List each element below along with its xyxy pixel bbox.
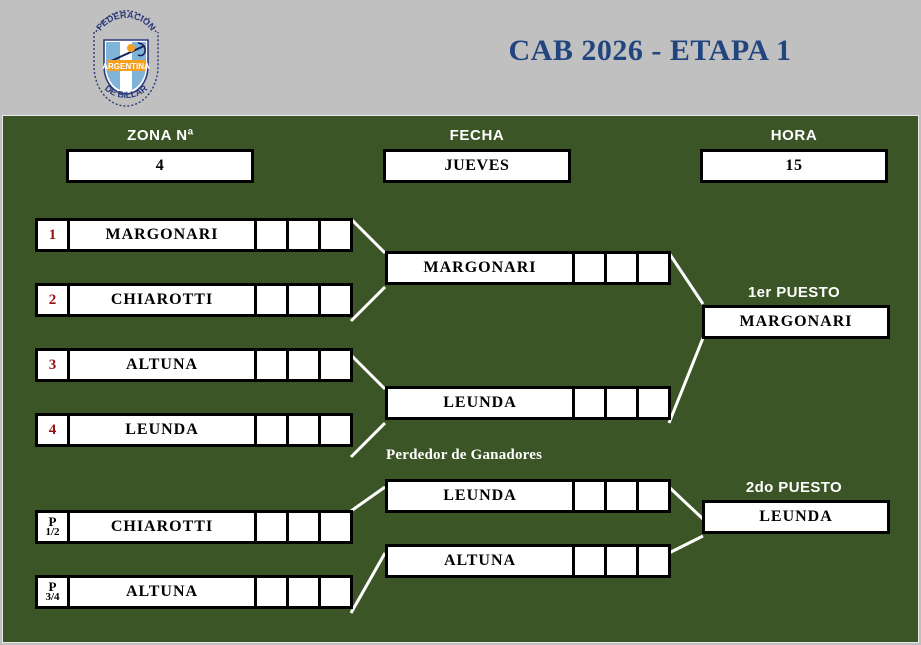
score-cell[interactable]	[286, 221, 318, 249]
table-row[interactable]: 1 MARGONARI	[35, 218, 353, 252]
score-cell[interactable]	[286, 578, 318, 606]
player-name: LEUNDA	[388, 389, 572, 417]
page-title: CAB 2026 - ETAPA 1	[380, 34, 920, 68]
federacion-argentina-de-billar-logo-icon: FEDERACIÓN ARGENTINA DE BILLA	[82, 10, 170, 110]
score-cells	[254, 286, 350, 314]
score-cell[interactable]	[254, 351, 286, 379]
score-cell[interactable]	[572, 389, 604, 417]
score-cell[interactable]	[318, 286, 350, 314]
first-place-row[interactable]: MARGONARI	[702, 305, 890, 339]
player-name: CHIAROTTI	[70, 513, 254, 541]
table-row[interactable]: MARGONARI	[385, 251, 671, 285]
table-row[interactable]: LEUNDA	[385, 386, 671, 420]
score-cell[interactable]	[604, 254, 636, 282]
table-row[interactable]: 2 CHIAROTTI	[35, 283, 353, 317]
score-cell[interactable]	[572, 547, 604, 575]
seed-label-bottom: 3/4	[45, 592, 59, 603]
score-cell[interactable]	[318, 221, 350, 249]
score-cell[interactable]	[636, 482, 668, 510]
score-cell[interactable]	[318, 513, 350, 541]
score-cell[interactable]	[572, 482, 604, 510]
second-place-row[interactable]: LEUNDA	[702, 500, 890, 534]
score-cell[interactable]	[286, 513, 318, 541]
score-cell[interactable]	[572, 254, 604, 282]
score-cells	[254, 221, 350, 249]
score-cell[interactable]	[254, 416, 286, 444]
seed-number: 2	[38, 286, 70, 314]
table-row[interactable]: LEUNDA	[385, 479, 671, 513]
score-cells	[572, 547, 668, 575]
seed-label-bottom: 1/2	[45, 527, 59, 538]
seed-number: 4	[38, 416, 70, 444]
player-name: ALTUNA	[70, 578, 254, 606]
score-cell[interactable]	[286, 416, 318, 444]
score-cells	[254, 351, 350, 379]
second-place-label: 2do PUESTO	[700, 479, 888, 496]
score-cell[interactable]	[254, 221, 286, 249]
player-name: MARGONARI	[388, 254, 572, 282]
score-cell[interactable]	[254, 513, 286, 541]
score-cell[interactable]	[318, 416, 350, 444]
player-name: MARGONARI	[70, 221, 254, 249]
player-name: LEUNDA	[70, 416, 254, 444]
score-cell[interactable]	[286, 286, 318, 314]
table-row[interactable]: 3 ALTUNA	[35, 348, 353, 382]
table-row[interactable]: P 3/4 ALTUNA	[35, 575, 353, 609]
table-row[interactable]: ALTUNA	[385, 544, 671, 578]
score-cells	[572, 482, 668, 510]
score-cell[interactable]	[604, 389, 636, 417]
score-cell[interactable]	[604, 482, 636, 510]
score-cells	[254, 416, 350, 444]
seed-label: P 1/2	[38, 513, 70, 541]
svg-text:FEDERACIÓN: FEDERACIÓN	[94, 10, 158, 32]
score-cells	[572, 389, 668, 417]
page-header: FEDERACIÓN ARGENTINA DE BILLA	[0, 0, 921, 115]
bracket-board: ZONA Nª 4 FECHA JUEVES HORA 15 1 M	[2, 115, 919, 643]
score-cell[interactable]	[286, 351, 318, 379]
player-name: LEUNDA	[705, 503, 887, 531]
score-cell[interactable]	[636, 254, 668, 282]
score-cells	[572, 254, 668, 282]
score-cell[interactable]	[254, 578, 286, 606]
player-name: ALTUNA	[70, 351, 254, 379]
player-name: MARGONARI	[705, 308, 887, 336]
losers-bracket-note: Perdedor de Ganadores	[386, 447, 542, 464]
seed-number: 1	[38, 221, 70, 249]
first-place-label: 1er PUESTO	[700, 284, 888, 301]
bracket-page: FEDERACIÓN ARGENTINA DE BILLA	[0, 0, 921, 645]
table-row[interactable]: 4 LEUNDA	[35, 413, 353, 447]
score-cells	[254, 513, 350, 541]
score-cell[interactable]	[318, 351, 350, 379]
score-cell[interactable]	[318, 578, 350, 606]
score-cell[interactable]	[636, 389, 668, 417]
table-row[interactable]: P 1/2 CHIAROTTI	[35, 510, 353, 544]
player-name: ALTUNA	[388, 547, 572, 575]
seed-number: 3	[38, 351, 70, 379]
score-cell[interactable]	[636, 547, 668, 575]
player-name: CHIAROTTI	[70, 286, 254, 314]
score-cells	[254, 578, 350, 606]
svg-text:ARGENTINA: ARGENTINA	[102, 62, 150, 71]
seed-label: P 3/4	[38, 578, 70, 606]
score-cell[interactable]	[254, 286, 286, 314]
player-name: LEUNDA	[388, 482, 572, 510]
score-cell[interactable]	[604, 547, 636, 575]
